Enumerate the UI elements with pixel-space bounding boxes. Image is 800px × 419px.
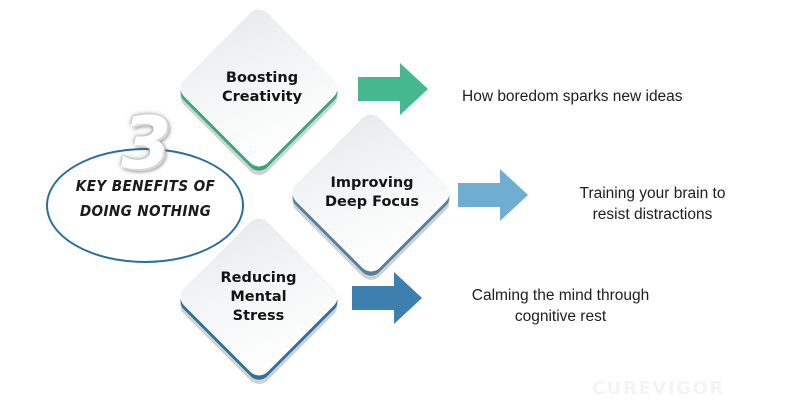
card-label-line-2: Creativity bbox=[222, 89, 302, 105]
badge-number: 3 bbox=[106, 102, 186, 184]
benefit-description-1: How boredom sparks new ideas bbox=[462, 86, 782, 107]
card-label-line-3: Stress bbox=[233, 308, 285, 324]
card-label: Boosting Creativity bbox=[192, 29, 332, 147]
benefit-card-improving-deep-focus[interactable]: Improving Deep Focus bbox=[312, 134, 430, 252]
description-line-2: resist distractions bbox=[520, 204, 785, 225]
arrow-right-icon-1 bbox=[358, 63, 428, 115]
benefit-card-boosting-creativity[interactable]: Boosting Creativity bbox=[200, 29, 318, 147]
description-line-1: Calming the mind through bbox=[472, 287, 650, 304]
badge-title-line-2: DOING NOTHING bbox=[60, 199, 232, 224]
card-label-line-1: Reducing bbox=[221, 270, 297, 286]
description-line-2: cognitive rest bbox=[428, 306, 693, 327]
card-label-line-2: Mental bbox=[230, 289, 286, 305]
card-label-line-2: Deep Focus bbox=[325, 194, 419, 210]
card-label: Reducing Mental Stress bbox=[186, 238, 331, 356]
watermark: CUREVIGOR bbox=[592, 378, 725, 399]
benefit-description-2: Training your brain to resist distractio… bbox=[520, 183, 785, 225]
card-label: Improving Deep Focus bbox=[292, 134, 452, 252]
arrow-right-icon-3 bbox=[352, 272, 422, 324]
description-line-1: How boredom sparks new ideas bbox=[462, 88, 683, 105]
card-label-line-1: Boosting bbox=[226, 70, 298, 86]
arrow-right-icon-2 bbox=[458, 169, 528, 221]
infographic-canvas: 3 KEY BENEFITS OF DOING NOTHING Boosting… bbox=[0, 0, 800, 419]
benefit-card-reducing-mental-stress[interactable]: Reducing Mental Stress bbox=[200, 238, 318, 356]
benefit-description-3: Calming the mind through cognitive rest bbox=[428, 285, 693, 327]
description-line-1: Training your brain to bbox=[580, 185, 726, 202]
card-label-line-1: Improving bbox=[330, 175, 413, 191]
